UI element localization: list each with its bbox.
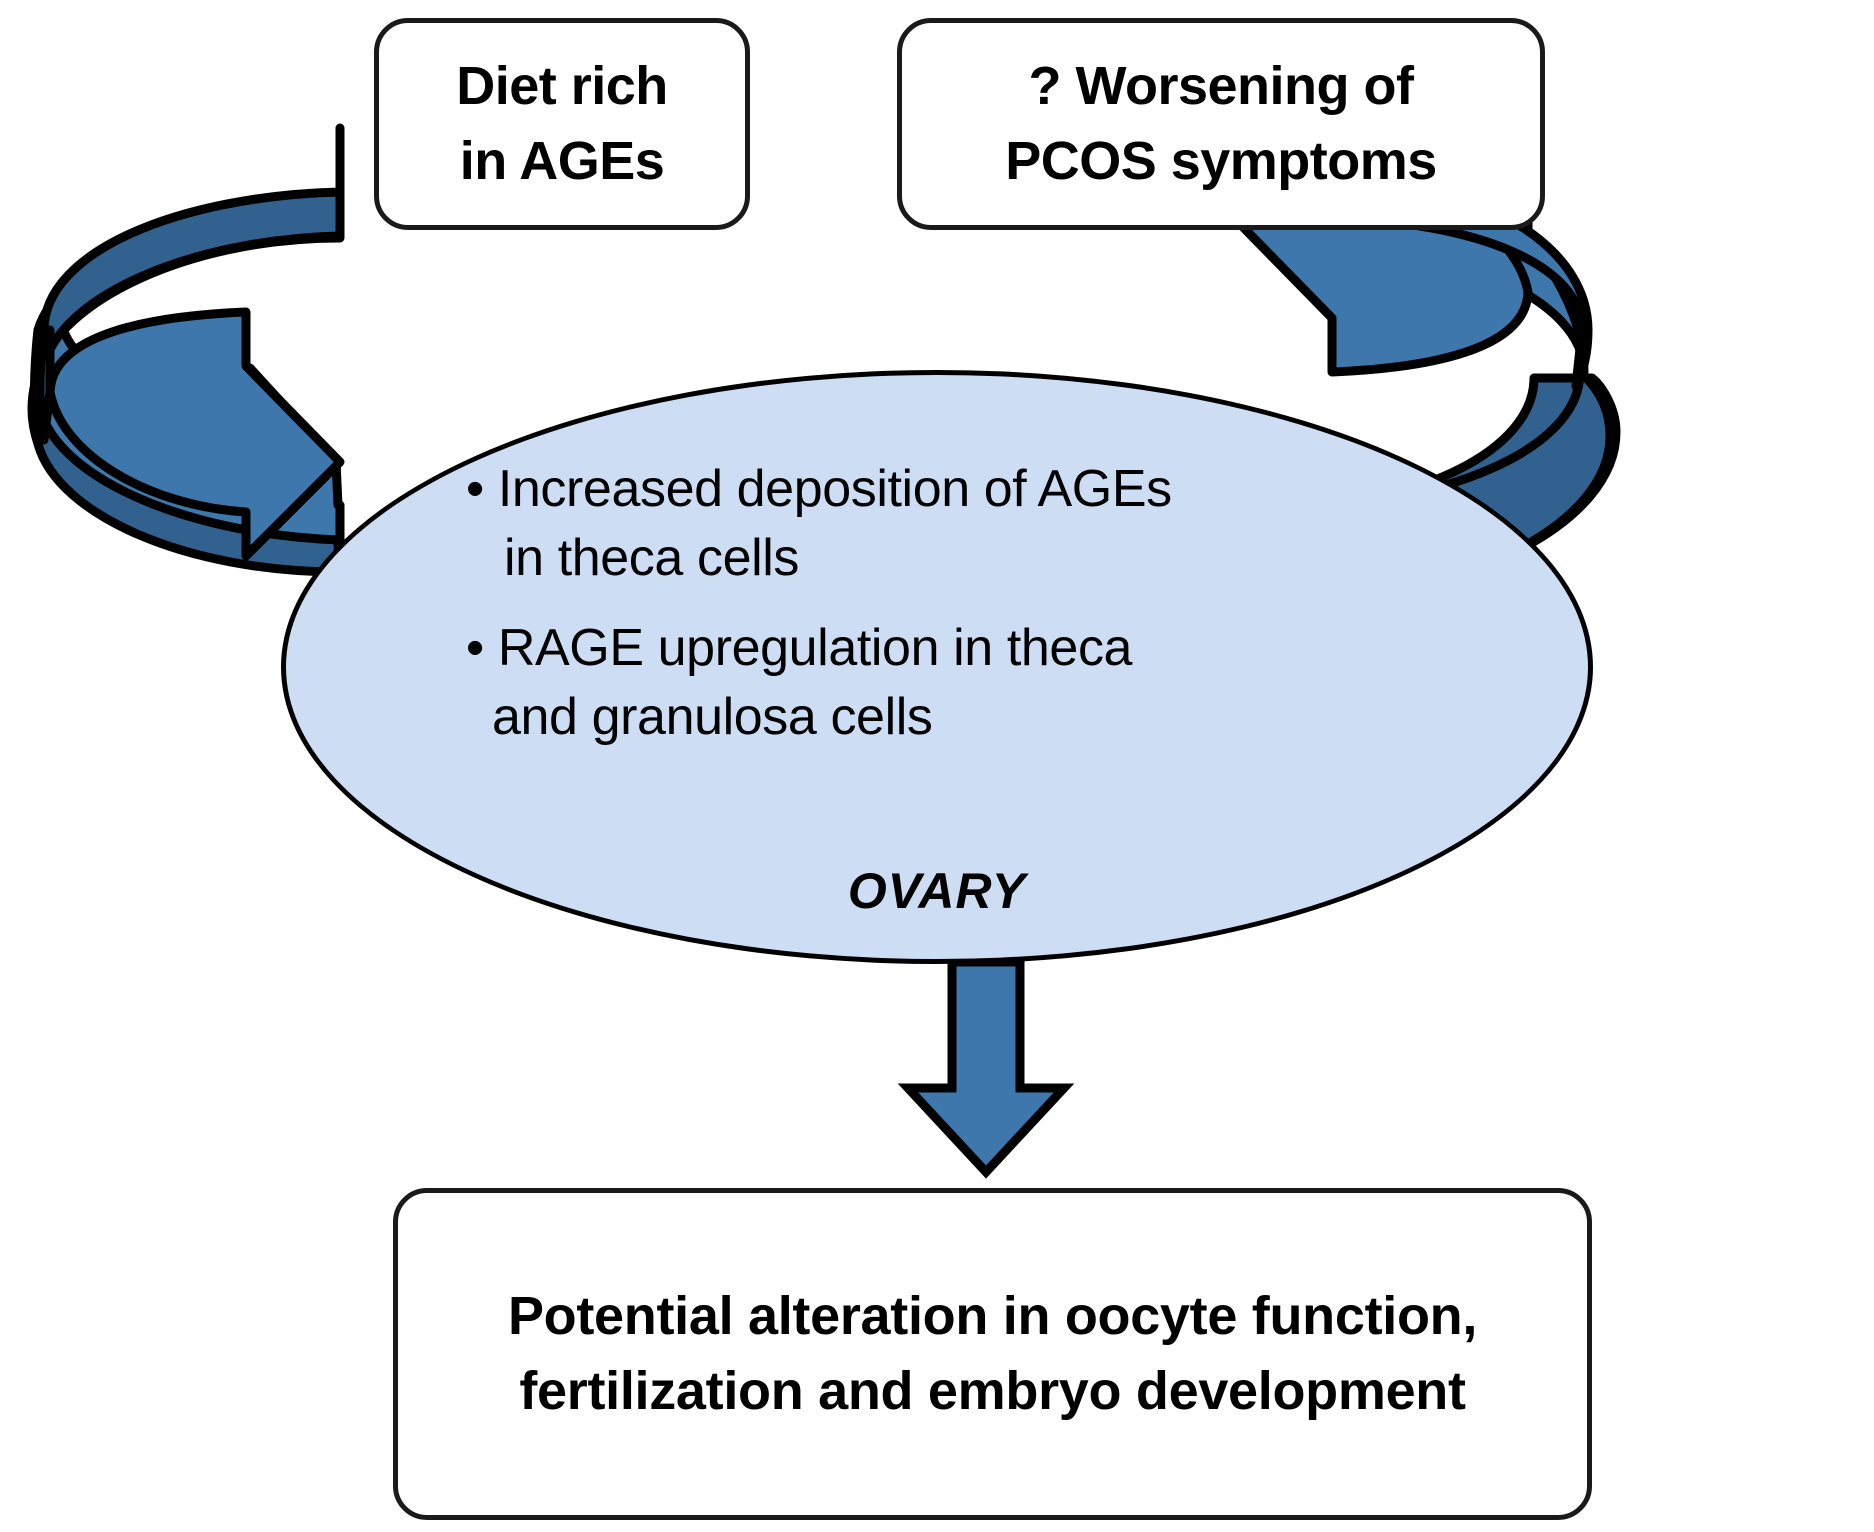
ovary-bullet-list: • Increased deposition of AGEs in theca … — [466, 455, 1416, 752]
ovary-bullet-item-2: • RAGE upregulation in theca and granulo… — [466, 614, 1416, 751]
ovary-bullet-item-1: • Increased deposition of AGEs in theca … — [466, 455, 1416, 592]
arrow-down-icon — [908, 962, 1064, 1172]
curved-arrow-left-down-icon — [32, 128, 340, 620]
node-worsening-of-pcos-symptoms[interactable]: ? Worsening of PCOS symptoms — [897, 18, 1545, 230]
node-diet-rich-in-ages[interactable]: Diet rich in AGEs — [374, 18, 750, 230]
diagram-canvas: Diet rich in AGEs ? Worsening of PCOS sy… — [0, 0, 1874, 1532]
curved-arrow-left-down-clean-icon — [28, 128, 340, 556]
ovary-label: OVARY — [281, 862, 1593, 920]
node-potential-alteration-outcome[interactable]: Potential alteration in oocyte function,… — [393, 1188, 1592, 1520]
